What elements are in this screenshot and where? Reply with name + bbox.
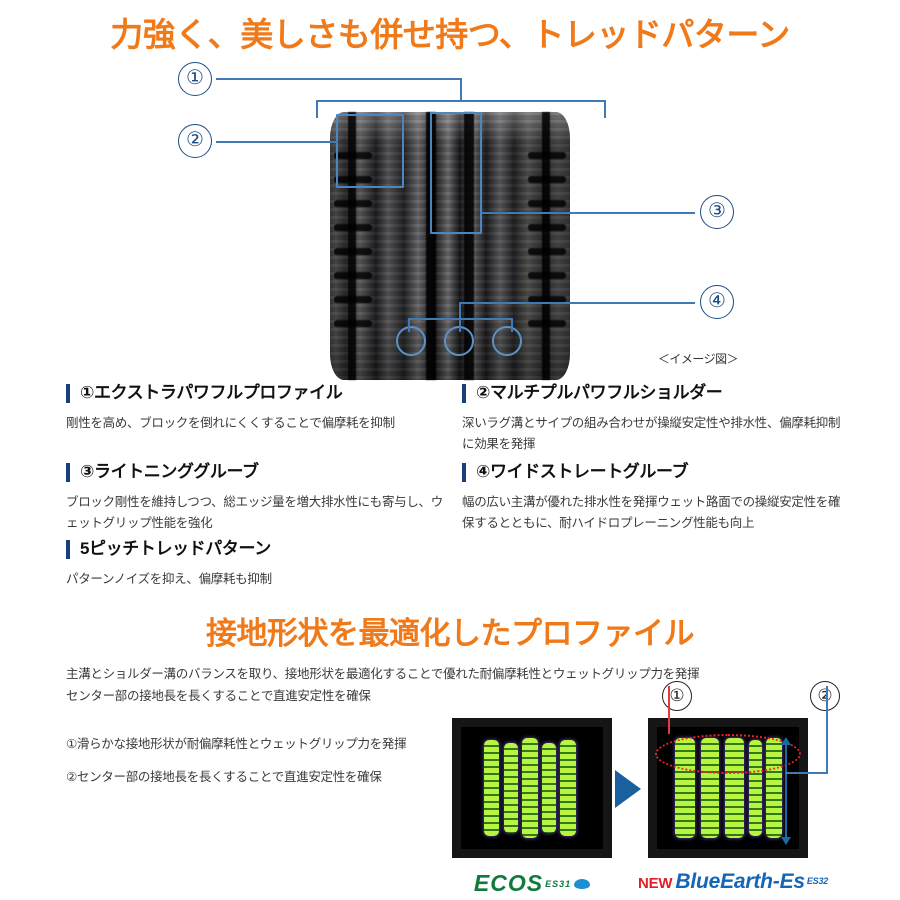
section-2-bullet-2: ②センター部の接地長を長くすることで直進安定性を確保 <box>66 766 382 785</box>
footprint-comparison: ECOSES31 NEWBlueEarth-EsES32 <box>452 718 848 900</box>
feature-2-body: 深いラグ溝とサイプの組み合わせが操縦安定性や排水性、偏摩耗抑制に効果を発揮 <box>462 413 842 455</box>
callout-marker-3: ③ <box>700 195 734 229</box>
section-2-title: 接地形状を最適化したプロファイル <box>0 608 900 653</box>
comparison-callout-1: ① <box>662 681 692 711</box>
callout-1-red-leader <box>668 686 670 734</box>
callout-3-leader <box>481 212 695 214</box>
callout-2-leader <box>216 141 338 143</box>
feature-block-3: ③ライトニンググルーブ ブロック剛性を維持しつつ、総エッジ量を増大排水性にも寄与… <box>66 461 446 534</box>
product-right-sub: ES32 <box>807 876 828 886</box>
callout-4-circle-a <box>396 326 426 356</box>
footprint-left-frame <box>452 718 612 858</box>
product-right-name: BlueEarth-Es <box>675 870 804 893</box>
section-2-intro: 主溝とショルダー溝のバランスを取り、接地形状を最適化することで優れた耐偏摩耗性と… <box>66 663 766 707</box>
contact-length-arrow-icon <box>785 744 787 838</box>
page-root: 力強く、美しさも併せ持つ、トレッドパターン ① <box>0 0 900 900</box>
footprint-left-image <box>461 727 603 849</box>
callout-marker-2: ② <box>178 124 212 158</box>
comparison-arrow-icon <box>615 770 641 808</box>
feature-4-body: 幅の広い主溝が優れた排水性を発揮ウェット路面での操縦安定性を確保するとともに、耐… <box>462 492 842 534</box>
callout-1-leader-drop <box>460 78 462 102</box>
callout-4-tick-a <box>408 318 410 332</box>
feature-3-heading: ③ライトニンググルーブ <box>66 461 446 483</box>
feature-block-5: 5ピッチトレッドパターン パターンノイズを抑え、偏摩耗も抑制 <box>66 538 446 590</box>
product-label-left: ECOSES31 <box>452 870 612 897</box>
callout-2-blue-leader <box>826 686 828 774</box>
product-label-right: NEWBlueEarth-EsES32 <box>638 870 798 894</box>
feature-1-body: 剛性を高め、ブロックを倒れにくくすることで偏摩耗を抑制 <box>66 413 446 434</box>
feature-4-heading: ④ワイドストレートグルーブ <box>462 461 842 483</box>
product-left-sub: ES31 <box>545 879 571 889</box>
feature-block-1: ①エクストラパワフルプロファイル 剛性を高め、ブロックを倒れにくくすることで偏摩… <box>66 382 446 434</box>
callout-4-circle-c <box>492 326 522 356</box>
callout-marker-4: ④ <box>700 285 734 319</box>
callout-4-tick-b <box>459 302 461 332</box>
section-1-title: 力強く、美しさも併せ持つ、トレッドパターン <box>0 8 900 56</box>
image-caption: ＜イメージ図＞ <box>598 350 798 367</box>
feature-5-heading: 5ピッチトレッドパターン <box>66 538 446 560</box>
callout-marker-1: ① <box>178 62 212 96</box>
callout-2-highlight-box <box>336 114 404 188</box>
new-badge: NEW <box>638 875 672 892</box>
feature-5-body: パターンノイズを抑え、偏摩耗も抑制 <box>66 569 446 590</box>
callout-1-bracket-right <box>604 100 606 118</box>
callout-3-highlight-box <box>430 112 482 234</box>
callout-4-tick-c <box>511 318 513 332</box>
callout-4-leader <box>459 302 695 304</box>
section-2-intro-line-1: 主溝とショルダー溝のバランスを取り、接地形状を最適化することで優れた耐偏摩耗性と… <box>66 663 766 685</box>
section-2-intro-line-2: センター部の接地長を長くすることで直進安定性を確保 <box>66 685 766 707</box>
callout-1-bracket-left <box>316 100 318 118</box>
comparison-callout-2: ② <box>810 681 840 711</box>
product-left-name: ECOS <box>474 870 543 896</box>
callout-2-blue-leader-h <box>785 772 827 774</box>
callout-1-leader <box>216 78 461 80</box>
ecos-swoosh-icon <box>574 879 590 889</box>
feature-1-heading: ①エクストラパワフルプロファイル <box>66 382 446 404</box>
feature-2-heading: ②マルチプルパワフルショルダー <box>462 382 842 404</box>
feature-3-body: ブロック剛性を維持しつつ、総エッジ量を増大排水性にも寄与し、ウェットグリップ性能… <box>66 492 446 534</box>
section-2-bullet-1: ①滑らかな接地形状が耐偏摩耗性とウェットグリップ力を発揮 <box>66 733 406 752</box>
red-dotted-ellipse-annotation <box>655 734 801 774</box>
feature-block-2: ②マルチプルパワフルショルダー 深いラグ溝とサイプの組み合わせが操縦安定性や排水… <box>462 382 842 455</box>
tire-diagram: ① ② ③ ④ <box>0 52 900 382</box>
feature-block-4: ④ワイドストレートグルーブ 幅の広い主溝が優れた排水性を発揮ウェット路面での操縦… <box>462 461 842 534</box>
